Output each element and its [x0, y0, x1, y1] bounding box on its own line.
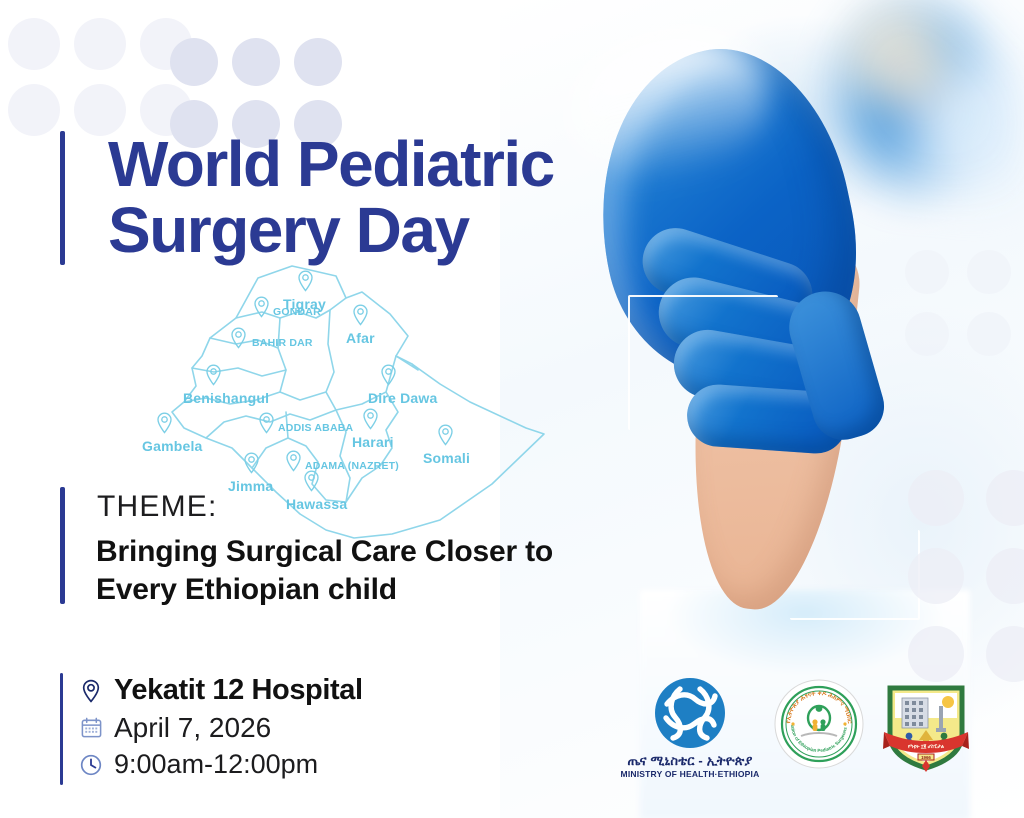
map-pin-icon: [258, 412, 275, 434]
dot-pattern-photo-overlay: [905, 250, 1011, 356]
decorative-dot: [986, 548, 1024, 604]
venue-row: Yekatit 12 Hospital: [78, 672, 498, 709]
yekatit-12-hospital-crest: የካቲት ፲፪ ሆስፒታል 1966: [882, 678, 970, 772]
ministry-name-amharic: ጤና ሚኒስቴር - ኢትዮጵያ: [610, 753, 770, 769]
map-pin-icon: [380, 364, 397, 386]
theme-label: THEME:: [97, 490, 218, 524]
clock-icon: [78, 752, 104, 778]
decorative-dot: [294, 38, 342, 86]
decorative-dot: [986, 626, 1024, 682]
page-title: World Pediatric Surgery Day: [108, 132, 728, 264]
calendar-icon: [78, 715, 104, 741]
theme-line-2: Every Ethiopian child: [96, 573, 397, 606]
pediatric-surgeons-society-emblem: የኢትዮጵያ ሕፃናት ቀዶ ሕክምና ማህበር Association of …: [773, 678, 865, 770]
dot-pattern-top-left-pale: [8, 18, 192, 136]
ministry-name-english: MINISTRY OF HEALTH·ETHIOPIA: [610, 769, 770, 779]
map-label-dire-dawa: Dire Dawa: [368, 390, 438, 406]
event-date: April 7, 2026: [114, 712, 271, 744]
map-pin-icon: [352, 304, 369, 326]
map-label-hawassa: Hawassa: [286, 496, 347, 512]
decorative-dot: [905, 250, 949, 294]
map-label-gambela: Gambela: [142, 438, 203, 454]
dot-pattern-right-edge: [908, 470, 1024, 682]
partner-logos: ጤና ሚኒስቴር - ኢትዮጵያ MINISTRY OF HEALTH·ETHI…: [610, 672, 970, 792]
map-label-benishangul: Benishangul: [183, 390, 269, 406]
accent-bar-theme: [60, 487, 65, 604]
event-details: Yekatit 12 Hospital April 7, 2026: [78, 672, 498, 783]
map-label-afar: Afar: [346, 330, 375, 346]
svg-text:የካቲት ፲፪ ሆስፒታል: የካቲት ፲፪ ሆስፒታል: [908, 744, 945, 750]
decorative-dot: [8, 18, 60, 70]
accent-bar-title: [60, 131, 65, 265]
moh-knot-icon: [653, 676, 727, 750]
theme-line-1: Bringing Surgical Care Closer to: [96, 535, 553, 568]
accent-bar-info: [60, 673, 63, 785]
corner-bracket-top-left: [628, 295, 778, 430]
decorative-dot: [986, 470, 1024, 526]
theme-text: Bringing Surgical Care Closer to Every E…: [96, 533, 666, 610]
decorative-dot: [905, 312, 949, 356]
poster-canvas: TigrayGONDARAfarBAHIR DARBenishangulDire…: [0, 0, 1024, 818]
gloved-surgeon-hand: [585, 40, 915, 540]
event-time: 9:00am-12:00pm: [114, 749, 318, 780]
map-pin-icon: [253, 296, 270, 318]
date-row: April 7, 2026: [78, 709, 498, 746]
map-label-jimma: Jimma: [228, 478, 273, 494]
map-pin-icon: [297, 270, 314, 292]
headline-line-2: Surgery Day: [108, 198, 728, 264]
decorative-dot: [967, 312, 1011, 356]
map-label-gondar: GONDAR: [273, 306, 321, 318]
map-pin-icon: [285, 450, 302, 472]
map-pin-icon: [156, 412, 173, 434]
decorative-dot: [74, 18, 126, 70]
map-label-bahir-dar: BAHIR DAR: [252, 337, 313, 349]
decorative-dot: [170, 38, 218, 86]
ministry-of-health-logo: ጤና ሚኒስቴር - ኢትዮጵያ MINISTRY OF HEALTH·ETHI…: [610, 676, 770, 779]
map-pin-icon: [303, 470, 320, 492]
decorative-dot: [8, 84, 60, 136]
map-pin-icon: [437, 424, 454, 446]
time-row: 9:00am-12:00pm: [78, 746, 498, 783]
headline-line-1: World Pediatric: [108, 128, 554, 200]
location-pin-icon: [78, 678, 104, 704]
decorative-dot: [908, 470, 964, 526]
map-pin-icon: [362, 408, 379, 430]
map-pin-icon: [205, 364, 222, 386]
decorative-dot: [908, 548, 964, 604]
corner-bracket-bottom-right: [790, 530, 920, 620]
map-pin-icon: [243, 452, 260, 474]
map-label-somali: Somali: [423, 450, 470, 466]
map-label-addis-ababa: ADDIS ABABA: [278, 422, 353, 434]
svg-text:1966: 1966: [921, 755, 931, 760]
decorative-dot: [232, 38, 280, 86]
map-label-harari: Harari: [352, 434, 394, 450]
map-pin-icon: [230, 327, 247, 349]
decorative-dot: [967, 250, 1011, 294]
venue-name: Yekatit 12 Hospital: [114, 674, 363, 707]
